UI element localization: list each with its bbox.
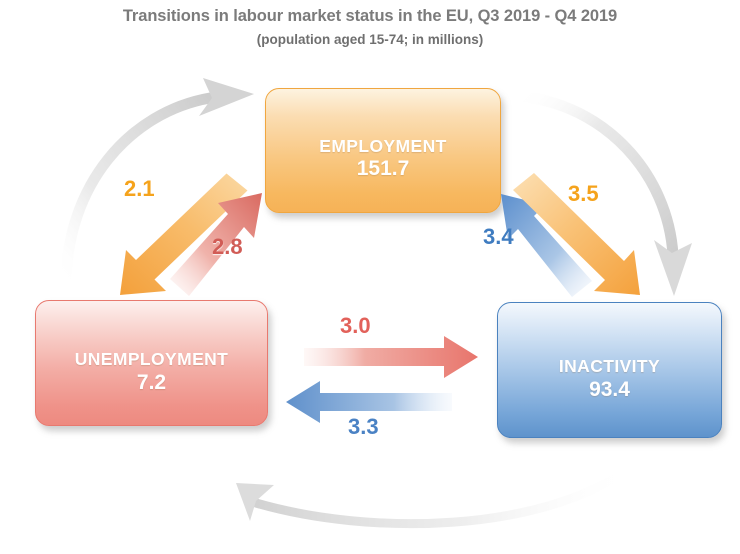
flow-label-unemployment-to-inactivity: 3.0 [340, 313, 371, 339]
flow-label-inactivity-to-unemployment: 3.3 [348, 414, 379, 440]
flow-label-unemployment-to-employment: 2.8 [212, 234, 243, 260]
arrow-unemployment-to-inactivity [304, 336, 478, 378]
flow-label-inactivity-to-employment: 3.4 [483, 224, 514, 250]
flow-label-employment-to-inactivity: 3.5 [568, 181, 599, 207]
flow-arrows [0, 0, 740, 554]
diagram-canvas: Transitions in labour market status in t… [0, 0, 740, 554]
flow-label-employment-to-unemployment: 2.1 [124, 176, 155, 202]
